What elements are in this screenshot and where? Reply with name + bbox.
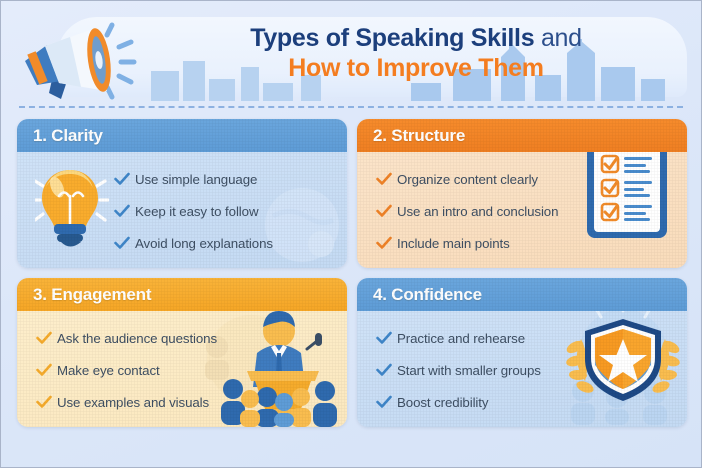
check-icon: [31, 395, 57, 409]
check-icon: [109, 236, 135, 250]
card-structure[interactable]: 2. Structure: [357, 119, 687, 268]
list-item-label: Boost credibility: [397, 395, 488, 410]
list-item: Make eye contact: [31, 354, 337, 386]
lightbulb-icon: [35, 166, 109, 261]
card-clarity-title: 1. Clarity: [33, 126, 103, 146]
check-icon: [31, 363, 57, 377]
dashed-divider: [19, 106, 683, 108]
check-icon: [371, 236, 397, 250]
list-item: Organize content clearly: [371, 163, 677, 195]
list-item-label: Use simple language: [135, 172, 257, 187]
card-clarity-bullets: Use simple language Keep it easy to foll…: [109, 163, 337, 259]
list-item: Use examples and visuals: [31, 386, 337, 418]
check-icon: [371, 363, 397, 377]
card-structure-title: 2. Structure: [373, 126, 465, 146]
list-item: Keep it easy to follow: [109, 195, 337, 227]
card-clarity-body: Use simple language Keep it easy to foll…: [17, 152, 347, 268]
list-item: Include main points: [371, 227, 677, 259]
card-engagement-body: Ask the audience questions Make eye cont…: [17, 311, 347, 427]
poster-header: Types of Speaking Skills and How to Impr…: [1, 1, 701, 109]
list-item-label: Ask the audience questions: [57, 331, 217, 346]
list-item-label: Keep it easy to follow: [135, 204, 258, 219]
list-item: Use an intro and conclusion: [371, 195, 677, 227]
check-icon: [371, 331, 397, 345]
check-icon: [371, 172, 397, 186]
card-clarity-header: 1. Clarity: [17, 119, 347, 152]
card-structure-header: 2. Structure: [357, 119, 687, 152]
infographic-poster: Types of Speaking Skills and How to Impr…: [0, 0, 702, 468]
card-structure-bullets: Organize content clearly Use an intro an…: [371, 163, 677, 259]
megaphone-icon: [15, 19, 141, 105]
card-clarity[interactable]: 1. Clarity: [17, 119, 347, 268]
list-item-label: Organize content clearly: [397, 172, 538, 187]
card-confidence-header: 4. Confidence: [357, 278, 687, 311]
card-confidence[interactable]: 4. Confidence: [357, 278, 687, 427]
card-engagement-bullets: Ask the audience questions Make eye cont…: [31, 322, 337, 418]
list-item: Practice and rehearse: [371, 322, 677, 354]
list-item: Start with smaller groups: [371, 354, 677, 386]
card-engagement[interactable]: 3. Engagement: [17, 278, 347, 427]
list-item-label: Practice and rehearse: [397, 331, 525, 346]
check-icon: [31, 331, 57, 345]
list-item: Ask the audience questions: [31, 322, 337, 354]
card-confidence-title: 4. Confidence: [373, 285, 482, 305]
card-engagement-title: 3. Engagement: [33, 285, 151, 305]
check-icon: [371, 204, 397, 218]
title-line-2: How to Improve Them: [141, 53, 691, 84]
card-confidence-body: Practice and rehearse Start with smaller…: [357, 311, 687, 427]
list-item-label: Use examples and visuals: [57, 395, 209, 410]
list-item-label: Avoid long explanations: [135, 236, 273, 251]
card-engagement-header: 3. Engagement: [17, 278, 347, 311]
check-icon: [371, 395, 397, 409]
poster-title: Types of Speaking Skills and How to Impr…: [141, 23, 691, 84]
list-item: Avoid long explanations: [109, 227, 337, 259]
list-item-label: Start with smaller groups: [397, 363, 541, 378]
list-item: Boost credibility: [371, 386, 677, 418]
title-line-1: Types of Speaking Skills and: [141, 23, 691, 53]
title-strong: Types of Speaking Skills: [250, 24, 534, 52]
list-item-label: Use an intro and conclusion: [397, 204, 558, 219]
list-item: Use simple language: [109, 163, 337, 195]
check-icon: [109, 172, 135, 186]
list-item-label: Include main points: [397, 236, 510, 251]
cards-grid: 1. Clarity: [17, 119, 687, 427]
card-structure-body: Organize content clearly Use an intro an…: [357, 152, 687, 268]
title-light: and: [534, 24, 581, 52]
list-item-label: Make eye contact: [57, 363, 160, 378]
check-icon: [109, 204, 135, 218]
card-confidence-bullets: Practice and rehearse Start with smaller…: [371, 322, 677, 418]
